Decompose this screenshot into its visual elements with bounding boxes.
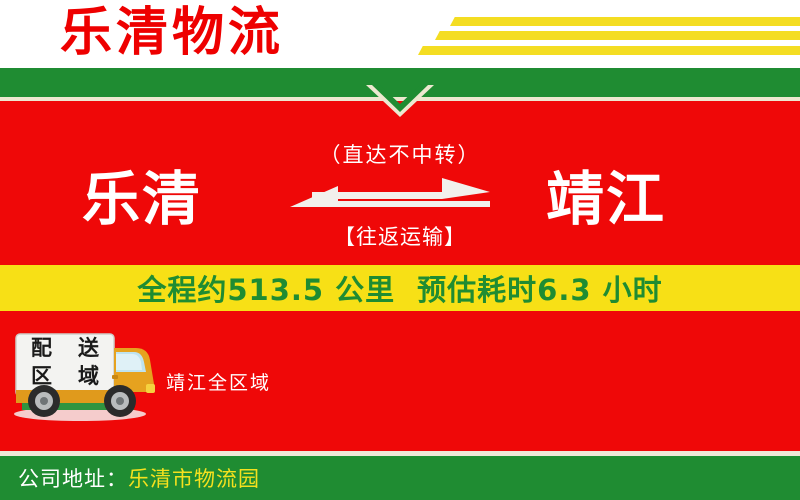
duration-text: 预估耗时6.3 小时 bbox=[417, 267, 662, 309]
address-value: 乐清市物流园 bbox=[128, 463, 260, 493]
stripe-3 bbox=[418, 46, 800, 55]
box-char-4: 域 bbox=[78, 365, 99, 387]
box-char-2: 送 bbox=[78, 337, 99, 359]
logistics-banner: 乐清物流 （直达不中转） 乐清 靖江 【往返运输】 全程约513.5 公里 预估… bbox=[0, 0, 800, 500]
truck-box-label: 配 送 区 域 bbox=[18, 334, 112, 390]
company-address: 公司地址： 乐清市物流园 bbox=[18, 456, 260, 500]
address-label: 公司地址： bbox=[18, 463, 128, 493]
metrics-row: 全程约513.5 公里 预估耗时6.3 小时 bbox=[0, 265, 800, 311]
decorative-stripes bbox=[400, 0, 800, 68]
banner-footer: 公司地址： 乐清市物流园 bbox=[0, 456, 800, 500]
stripe-2 bbox=[435, 31, 800, 40]
metrics-bar: 全程约513.5 公里 预估耗时6.3 小时 bbox=[0, 265, 800, 311]
box-char-3: 区 bbox=[31, 365, 52, 387]
brand-title: 乐清物流 bbox=[60, 2, 284, 64]
double-headed-arrow-icon bbox=[290, 178, 490, 220]
distance-text: 全程约513.5 公里 bbox=[137, 267, 395, 309]
chevron-down-icon bbox=[366, 85, 434, 117]
delivery-region-label: 靖江全区域 bbox=[166, 368, 271, 395]
stripe-1 bbox=[450, 17, 800, 26]
box-char-1: 配 bbox=[31, 337, 52, 359]
round-trip-note: 【往返运输】 bbox=[0, 221, 800, 251]
banner-header: 乐清物流 bbox=[0, 0, 800, 68]
